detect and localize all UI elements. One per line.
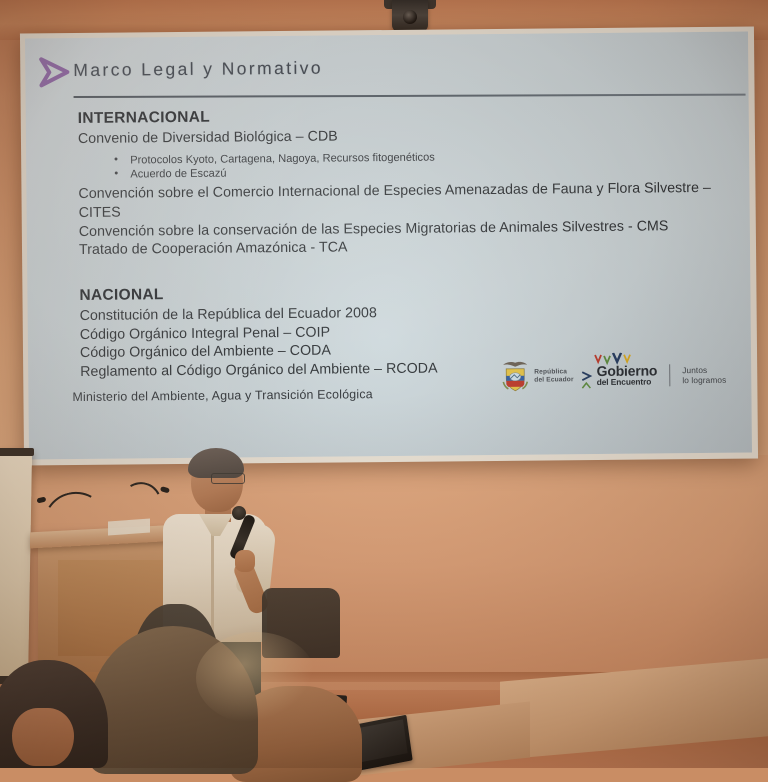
- gobierno-chevron-marks-icon: [593, 353, 639, 365]
- audience-face: [12, 708, 74, 766]
- banner-top-cap: [0, 448, 34, 456]
- roll-up-banner: [0, 452, 32, 685]
- projection-screen: Marco Legal y Normativo INTERNACIONAL Co…: [20, 26, 758, 465]
- section-heading-internacional: INTERNACIONAL: [78, 104, 729, 128]
- conference-room: Marco Legal y Normativo INTERNACIONAL Co…: [0, 0, 768, 768]
- gobierno-logo: Gobierno del Encuentro: [583, 364, 658, 388]
- slide-logos: República del Ecuador: [500, 358, 726, 394]
- title-underline: [74, 94, 746, 98]
- screen-surface: Marco Legal y Normativo INTERNACIONAL Co…: [25, 32, 752, 460]
- ecuador-coat-of-arms-logo: República del Ecuador: [500, 359, 574, 394]
- shield-icon: [500, 360, 530, 394]
- shirt-placket: [211, 524, 214, 636]
- slide-footer-ministry: Ministerio del Ambiente, Agua y Transici…: [72, 387, 372, 404]
- ceiling-camera-icon: [392, 0, 428, 32]
- logo-divider: [669, 364, 670, 386]
- audience-hair-highlight: [196, 632, 316, 724]
- presenter-hand: [235, 550, 255, 572]
- eyeglasses-icon: [211, 473, 245, 484]
- gobierno-logo-text: Gobierno del Encuentro: [597, 364, 658, 388]
- gobierno-tagline: Juntos lo logramos: [682, 364, 726, 385]
- slide: Marco Legal y Normativo INTERNACIONAL Co…: [25, 32, 752, 460]
- ecuador-logo-line2: del Ecuador: [534, 376, 573, 384]
- ecuador-logo-text: República del Ecuador: [534, 368, 574, 384]
- tagline-line1: Juntos: [682, 364, 726, 375]
- slide-title: Marco Legal y Normativo: [73, 58, 323, 81]
- gobierno-arrow-icon: [582, 370, 595, 390]
- slide-body: INTERNACIONAL Convenio de Diversidad Bio…: [78, 104, 732, 383]
- gobierno-line2: del Encuentro: [597, 378, 658, 388]
- tagline-line2: lo logramos: [682, 375, 726, 386]
